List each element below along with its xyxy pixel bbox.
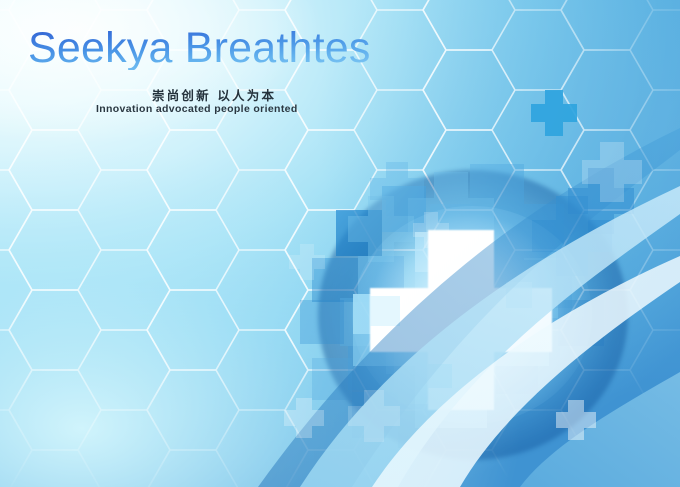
slogan-english: Innovation advocated people oriented xyxy=(96,103,298,115)
headline-block: Seekya Breathtes 崇尚创新 以人为本 Innovation ad… xyxy=(0,0,400,130)
cross-top-right xyxy=(531,90,577,136)
page-title: Seekya Breathtes xyxy=(28,27,371,70)
slogan-chinese: 崇尚创新 以人为本 xyxy=(152,85,276,104)
poster-canvas: Seekya Breathtes 崇尚创新 以人为本 Innovation ad… xyxy=(0,0,680,487)
